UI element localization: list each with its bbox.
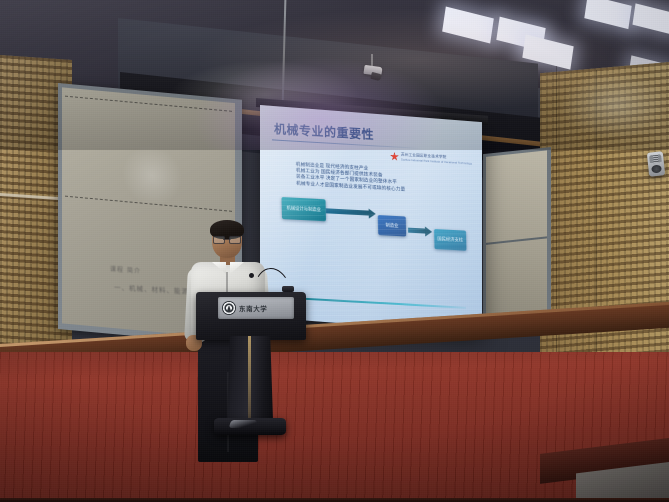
whiteboard-writing-line: 课程 简介 bbox=[110, 264, 141, 275]
whiteboard-right bbox=[483, 147, 551, 329]
speaker-grill-icon bbox=[649, 154, 662, 163]
podium-base-highlight bbox=[229, 420, 258, 428]
podium: 东南大学 bbox=[196, 292, 306, 442]
glasses-lens-left bbox=[213, 236, 225, 244]
whiteboard-smudge bbox=[122, 143, 182, 208]
stage-floor-reflection bbox=[0, 0, 669, 150]
eyeglasses-icon bbox=[213, 236, 241, 242]
podium-gold-stripe bbox=[248, 336, 251, 420]
wall-speaker bbox=[647, 151, 665, 177]
whiteboard-writing-line: 一、机械、材料、能源 bbox=[114, 281, 189, 295]
whiteboard-right-surface bbox=[486, 150, 547, 324]
lecture-hall-photo: 课程 简介 一、机械、材料、能源 机械专业的重要性 苏州工业园区职业技术学院 S… bbox=[0, 0, 669, 502]
speaker-cone-icon bbox=[651, 164, 662, 173]
university-emblem-icon bbox=[222, 301, 236, 315]
podium-plaque-text: 东南大学 bbox=[239, 303, 267, 313]
podium-top: 东南大学 bbox=[196, 292, 306, 340]
podium-plaque: 东南大学 bbox=[218, 297, 294, 319]
whiteboard-right-divider bbox=[486, 236, 547, 244]
stage-front-edge bbox=[0, 498, 669, 502]
glasses-lens-right bbox=[229, 236, 241, 244]
gooseneck-mic-head-icon bbox=[249, 273, 254, 278]
